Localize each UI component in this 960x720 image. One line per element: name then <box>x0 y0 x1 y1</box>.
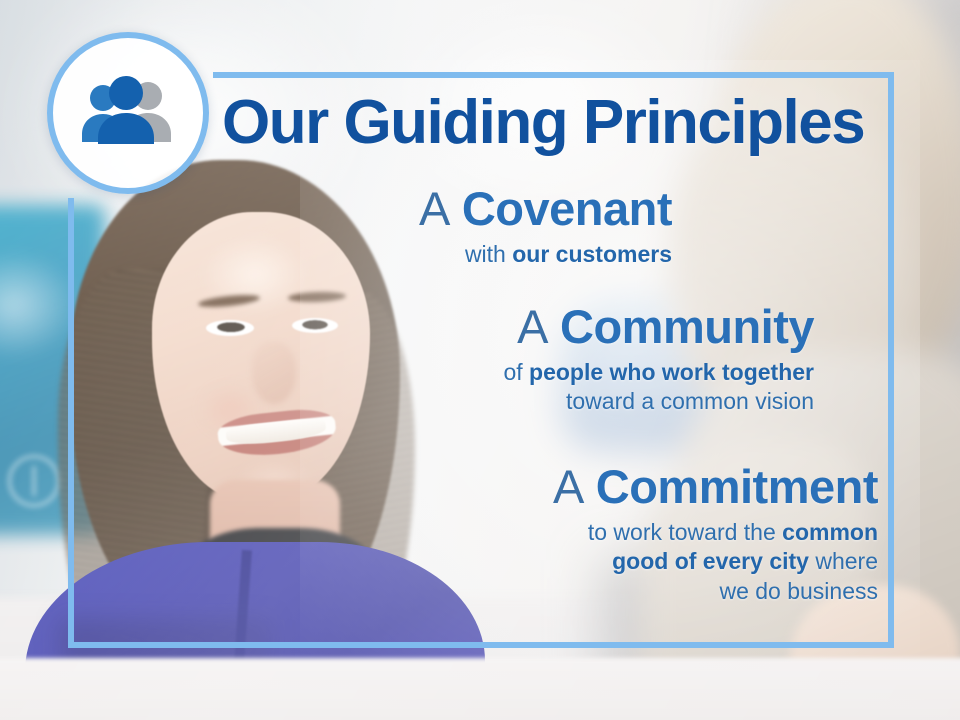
subtext-run: of <box>503 359 529 385</box>
principle-commitment-subline-1: good of every city where <box>300 547 878 576</box>
principle-covenant-lead: A <box>419 182 462 235</box>
principle-commitment: A Commitment to work toward the common g… <box>300 462 878 606</box>
principle-commitment-headline: A Commitment <box>300 462 878 512</box>
subtext-run-bold: people who work together <box>529 359 814 385</box>
principle-community: A Community of people who work together … <box>300 302 814 417</box>
people-group-icon <box>76 76 180 150</box>
principle-community-lead: A <box>517 300 560 353</box>
principle-commitment-subline-0: to work toward the common <box>300 518 878 547</box>
subtext-run: we do business <box>719 578 878 604</box>
principle-commitment-subtext: to work toward the common good of every … <box>300 518 878 606</box>
subtext-run: with <box>465 241 512 267</box>
principle-commitment-lead: A <box>553 460 596 513</box>
principle-community-keyword: Community <box>560 300 814 353</box>
subtext-run: toward a common vision <box>566 388 814 414</box>
principle-covenant-headline: A Covenant <box>300 184 672 234</box>
principle-community-subline-0: of people who work together <box>300 358 814 387</box>
principle-covenant-subtext: with our customers <box>300 240 672 269</box>
subtext-run: where <box>809 548 878 574</box>
subtext-run-bold: good of every city <box>612 548 809 574</box>
principle-covenant-keyword: Covenant <box>462 182 672 235</box>
principle-commitment-subline-2: we do business <box>300 577 878 606</box>
principle-covenant-subline-0: with our customers <box>300 240 672 269</box>
desk-surface <box>0 658 960 720</box>
principle-covenant: A Covenant with our customers <box>300 184 672 269</box>
employee-eye-left <box>206 320 254 336</box>
principle-community-subline-1: toward a common vision <box>300 387 814 416</box>
people-group-badge <box>47 32 209 194</box>
principle-commitment-keyword: Commitment <box>596 460 878 513</box>
principle-community-subtext: of people who work together toward a com… <box>300 358 814 417</box>
subtext-run-bold: common <box>782 519 878 545</box>
subtext-run: to work toward the <box>588 519 782 545</box>
subtext-run-bold: our customers <box>512 241 672 267</box>
principle-community-headline: A Community <box>300 302 814 352</box>
page-title: Our Guiding Principles <box>222 92 864 154</box>
marketing-graphic: FLOW FLOW Our Gu <box>0 0 960 720</box>
